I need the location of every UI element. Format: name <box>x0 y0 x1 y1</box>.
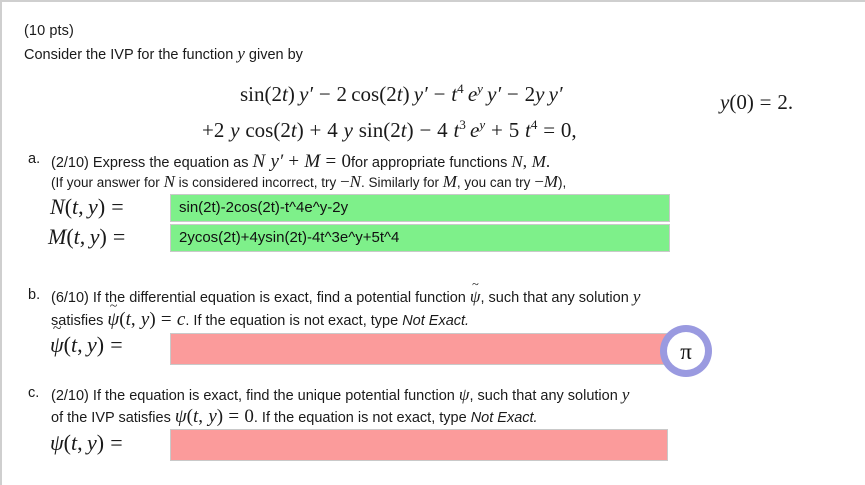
part-b-weight: (6/10) <box>51 290 89 306</box>
part-a-hint-4: , you can try <box>457 175 531 190</box>
pi-symbol-button[interactable]: π <box>660 325 712 377</box>
field-n-label: N(t, y) = <box>50 194 124 220</box>
field-psi-tilde-label: ~ψ(t, y) = <box>50 332 123 358</box>
part-b-statement-line2: satisfies ~ψ(t, y) = c. If the equation … <box>51 309 469 331</box>
part-c-letter: c. <box>28 385 39 401</box>
part-c-line2-before: of the IVP satisfies <box>51 410 171 426</box>
answer-field-psi-tilde[interactable] <box>170 333 668 365</box>
answer-field-psi[interactable] <box>170 429 668 461</box>
pi-icon: π <box>667 332 705 370</box>
part-a-hint-5: ), <box>558 175 566 190</box>
part-b-psi-tilde-symbol: ~ψ <box>470 287 481 307</box>
part-c-not-exact-emph: Not Exact. <box>471 410 538 426</box>
part-b-not-exact-emph: Not Exact. <box>402 313 469 329</box>
part-a-text-before: Express the equation as <box>93 155 249 171</box>
field-m-label: M(t, y) = <box>48 224 125 250</box>
equation-line-1: sin(2t) y′ − 2 cos(2t) y′ − t4 ey y′ − 2… <box>202 74 577 110</box>
initial-condition: y(0) = 2. <box>720 90 793 115</box>
points-label: (10 pts) <box>24 23 74 39</box>
part-a-hint: (If your answer for N is considered inco… <box>51 172 566 192</box>
answer-field-m[interactable]: 2ycos(2t)+4ysin(2t)-4t^3e^y+5t^4 <box>170 224 670 252</box>
problem-page: (10 pts) Consider the IVP for the functi… <box>0 0 865 485</box>
equation-line-2: +2 y cos(2t) + 4 y sin(2t) − 4 t3 ey + 5… <box>202 110 577 146</box>
part-b-letter: b. <box>28 287 40 303</box>
part-a-statement: (2/10) Express the equation as N y′ + M … <box>51 151 550 173</box>
differential-equation: sin(2t) y′ − 2 cos(2t) y′ − t4 ey y′ − 2… <box>202 74 577 146</box>
answer-field-n[interactable]: sin(2t)-2cos(2t)-t^4e^y-2y <box>170 194 670 222</box>
part-c-psi-symbol: ψ <box>459 385 470 404</box>
part-a-text-after: for appropriate functions <box>351 155 507 171</box>
part-c-line2-after: . If the equation is not exact, type <box>254 410 467 426</box>
part-c-statement-line1: (2/10) If the equation is exact, find th… <box>51 385 629 405</box>
part-a-hint-3: . Similarly for <box>361 175 439 190</box>
part-b-text-before: If the differential equation is exact, f… <box>93 290 466 306</box>
part-b-line2-after: . If the equation is not exact, type <box>185 313 398 329</box>
part-a-weight: (2/10) <box>51 155 89 171</box>
part-a-letter: a. <box>28 151 40 167</box>
part-a-hint-1: (If your answer for <box>51 175 160 190</box>
part-c-text-after: , such that any solution <box>469 388 617 404</box>
part-b-text-after: , such that any solution <box>480 290 628 306</box>
part-c-weight: (2/10) <box>51 388 89 404</box>
field-psi-label: ψ(t, y) = <box>50 430 123 456</box>
problem-intro: Consider the IVP for the function y give… <box>24 44 303 64</box>
part-a-hint-2: is considered incorrect, try <box>179 175 337 190</box>
intro-variable-y: y <box>237 44 245 63</box>
part-c-text-before: If the equation is exact, find the uniqu… <box>93 388 455 404</box>
part-c-statement-line2: of the IVP satisfies ψ(t, y) = 0. If the… <box>51 406 538 428</box>
intro-text-before: Consider the IVP for the function <box>24 47 233 63</box>
intro-text-after: given by <box>249 47 303 63</box>
part-b-statement-line1: (6/10) If the differential equation is e… <box>51 287 640 307</box>
